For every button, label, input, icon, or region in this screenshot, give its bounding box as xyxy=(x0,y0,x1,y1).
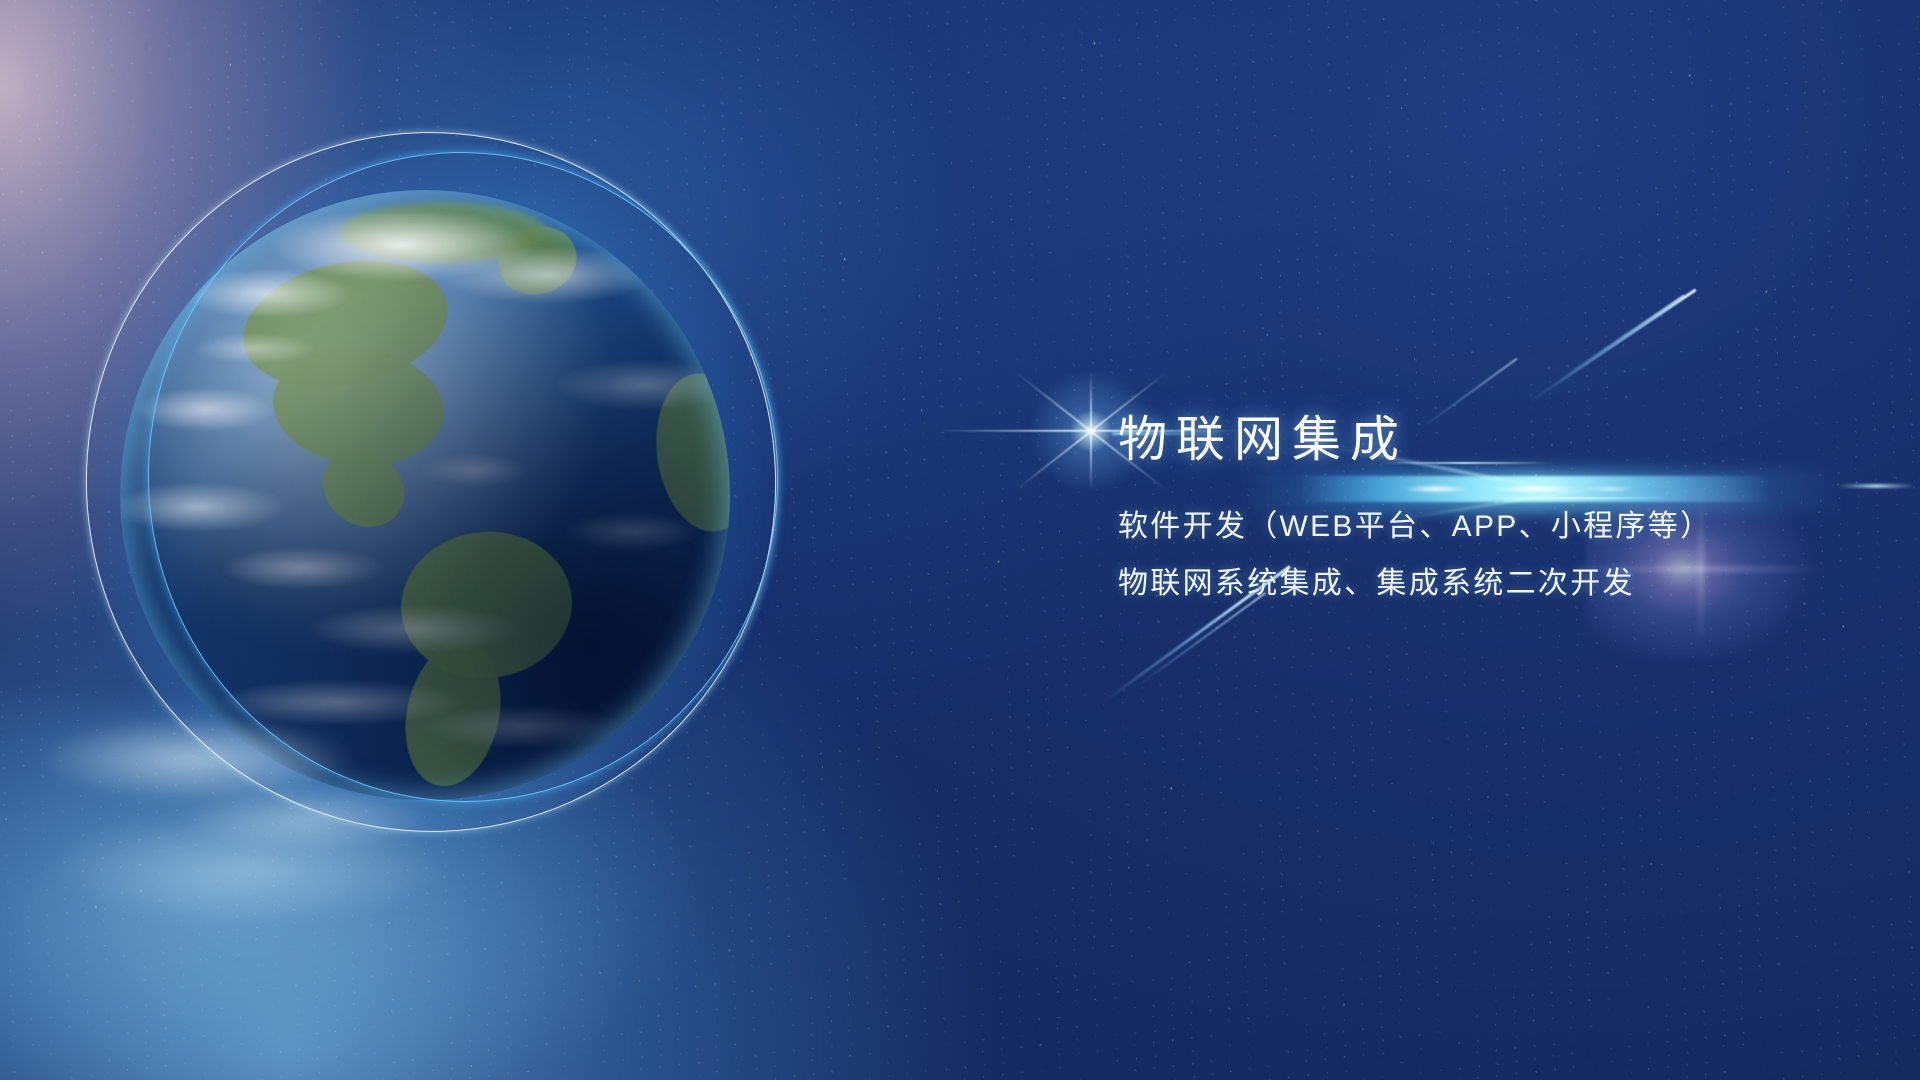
globe-sphere xyxy=(120,190,730,800)
banner-headline: 物联网集成 xyxy=(1118,416,1878,465)
banner-subtitle-1: 软件开发（WEB平台、APP、小程序等） xyxy=(1118,512,1878,542)
earth-globe xyxy=(120,190,730,800)
hero-banner: 物联网集成 软件开发（WEB平台、APP、小程序等） 物联网系统集成、集成系统二… xyxy=(0,0,1920,1080)
globe-cloud-layer xyxy=(120,190,730,800)
banner-subtitle-2: 物联网系统集成、集成系统二次开发 xyxy=(1118,569,1878,599)
banner-text-block: 物联网集成 软件开发（WEB平台、APP、小程序等） 物联网系统集成、集成系统二… xyxy=(1118,416,1878,599)
